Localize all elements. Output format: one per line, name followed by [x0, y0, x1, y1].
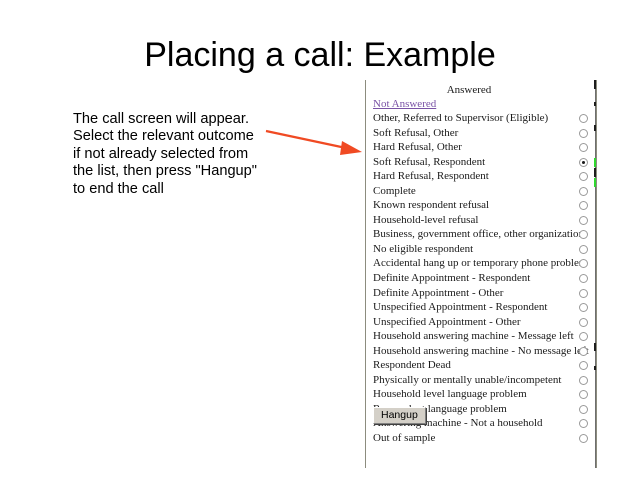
- outcome-row[interactable]: Out of sample: [366, 432, 597, 447]
- outcome-radio[interactable]: [579, 216, 588, 225]
- outcome-row[interactable]: Household answering machine - Message le…: [366, 330, 597, 345]
- instruction-text: The call screen will appear. Select the …: [73, 111, 288, 198]
- outcome-label: Complete: [373, 185, 416, 198]
- page-title: Placing a call: Example: [0, 36, 640, 75]
- outcome-label: Soft Refusal, Other: [373, 127, 458, 140]
- outcome-row[interactable]: Household answering machine - No message…: [366, 345, 597, 360]
- scroll-mark: [594, 80, 597, 89]
- scroll-mark: [594, 102, 597, 106]
- outcome-label: Household answering machine - Message le…: [373, 330, 574, 343]
- outcome-radio[interactable]: [579, 347, 588, 356]
- scroll-mark: [594, 158, 597, 167]
- outcome-label: Accidental hang up or temporary phone pr…: [373, 257, 587, 270]
- scroll-mark: [594, 343, 597, 351]
- outcome-label: Physically or mentally unable/incompeten…: [373, 374, 561, 387]
- outcome-label: Known respondent refusal: [373, 199, 489, 212]
- outcome-row[interactable]: Definite Appointment - Other: [366, 287, 597, 302]
- outcome-row[interactable]: Definite Appointment - Respondent: [366, 272, 597, 287]
- instruction-line: Select the relevant outcome: [73, 128, 288, 145]
- outcome-label: Respondent Dead: [373, 359, 451, 372]
- outcome-radio[interactable]: [579, 201, 588, 210]
- outcome-label: Hard Refusal, Respondent: [373, 170, 489, 183]
- outcome-label: Unspecified Appointment - Respondent: [373, 301, 547, 314]
- outcome-label: Definite Appointment - Other: [373, 287, 503, 300]
- outcome-radio[interactable]: [579, 289, 588, 298]
- outcome-row[interactable]: Business, government office, other organ…: [366, 228, 597, 243]
- scroll-mark: [594, 178, 597, 187]
- outcome-row[interactable]: Hard Refusal, Respondent: [366, 170, 597, 185]
- instruction-line: if not already selected from: [73, 146, 288, 163]
- panel-scrollbar[interactable]: [595, 80, 597, 468]
- outcome-radio[interactable]: [579, 274, 588, 283]
- outcome-label: Business, government office, other organ…: [373, 228, 584, 241]
- outcome-label: Other, Referred to Supervisor (Eligible): [373, 112, 548, 125]
- outcome-radio[interactable]: [579, 303, 588, 312]
- outcome-label: Soft Refusal, Respondent: [373, 156, 485, 169]
- outcome-row[interactable]: Complete: [366, 185, 597, 200]
- outcome-row[interactable]: Soft Refusal, Other: [366, 127, 597, 142]
- outcome-radio[interactable]: [579, 143, 588, 152]
- outcome-radio[interactable]: [579, 405, 588, 414]
- outcome-label: Definite Appointment - Respondent: [373, 272, 530, 285]
- outcome-radio[interactable]: [579, 318, 588, 327]
- outcome-row[interactable]: Accidental hang up or temporary phone pr…: [366, 257, 597, 272]
- outcome-row[interactable]: Other, Referred to Supervisor (Eligible): [366, 112, 597, 127]
- outcome-radio[interactable]: [579, 114, 588, 123]
- callout-arrow-icon: [262, 124, 366, 160]
- outcome-row[interactable]: Respondent Dead: [366, 359, 597, 374]
- outcome-label: Household level language problem: [373, 388, 527, 401]
- outcome-radio[interactable]: [579, 187, 588, 196]
- outcome-row[interactable]: Unspecified Appointment - Other: [366, 316, 597, 331]
- outcome-radio[interactable]: [579, 361, 588, 370]
- outcome-radio[interactable]: [579, 332, 588, 341]
- outcome-label: Unspecified Appointment - Other: [373, 316, 521, 329]
- scroll-mark: [594, 168, 597, 177]
- outcome-row[interactable]: Soft Refusal, Respondent: [366, 156, 597, 171]
- outcome-radio[interactable]: [579, 419, 588, 428]
- outcome-row[interactable]: Household level language problem: [366, 388, 597, 403]
- outcome-row[interactable]: Physically or mentally unable/incompeten…: [366, 374, 597, 389]
- outcome-row[interactable]: No eligible respondent: [366, 243, 597, 258]
- outcome-radio[interactable]: [579, 129, 588, 138]
- outcome-label: No eligible respondent: [373, 243, 473, 256]
- outcome-label: Hard Refusal, Other: [373, 141, 462, 154]
- outcome-label: Household answering machine - No message…: [373, 345, 589, 358]
- outcome-radio[interactable]: [579, 230, 588, 239]
- scroll-mark: [594, 366, 597, 370]
- call-outcome-list: Other, Referred to Supervisor (Eligible)…: [366, 112, 597, 447]
- instruction-line: the list, then press "Hangup": [73, 163, 288, 180]
- outcome-radio[interactable]: [579, 172, 588, 181]
- outcome-row[interactable]: Household-level refusal: [366, 214, 597, 229]
- instruction-line: to end the call: [73, 181, 288, 198]
- outcome-label: Household-level refusal: [373, 214, 478, 227]
- outcome-radio[interactable]: [579, 158, 588, 167]
- outcome-row[interactable]: Unspecified Appointment - Respondent: [366, 301, 597, 316]
- outcome-radio[interactable]: [579, 376, 588, 385]
- not-answered-link[interactable]: Not Answered: [373, 98, 436, 110]
- embedded-call-screen: Answered Not Answered Other, Referred to…: [365, 80, 597, 468]
- scroll-mark: [594, 125, 597, 131]
- answered-header: Answered: [366, 84, 572, 96]
- hangup-button[interactable]: Hangup: [373, 407, 426, 424]
- outcome-row[interactable]: Hard Refusal, Other: [366, 141, 597, 156]
- outcome-label: Out of sample: [373, 432, 435, 445]
- outcome-radio[interactable]: [579, 390, 588, 399]
- outcome-radio[interactable]: [579, 434, 588, 443]
- outcome-row[interactable]: Known respondent refusal: [366, 199, 597, 214]
- instruction-line: The call screen will appear.: [73, 111, 288, 128]
- outcome-radio[interactable]: [579, 245, 588, 254]
